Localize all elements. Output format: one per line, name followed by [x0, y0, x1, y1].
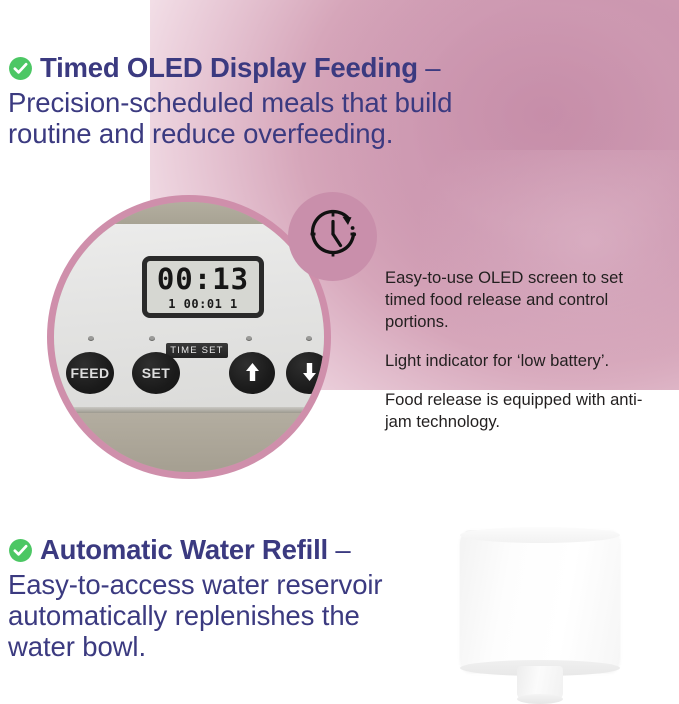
feature-title: Timed OLED Display Feeding: [40, 52, 418, 83]
feature-title-dash: –: [418, 52, 441, 83]
side-note-2: Light indicator for ‘low battery’.: [385, 350, 660, 372]
up-button[interactable]: [229, 352, 275, 394]
side-note-1: Easy-to-use OLED screen to set timed foo…: [385, 267, 660, 333]
arrow-down-icon: [301, 361, 318, 386]
clock-refresh-icon: [303, 204, 363, 269]
reservoir-body: [460, 530, 620, 672]
oled-main-time: 00:13: [147, 262, 259, 296]
arrow-up-icon: [244, 361, 261, 386]
check-circle-icon: [8, 538, 33, 569]
reservoir-top-rim: [460, 527, 620, 543]
led-indicator-2: [149, 336, 155, 341]
set-button[interactable]: SET: [132, 352, 180, 394]
feature-description-line-1: Easy-to-access water reservoir: [8, 569, 478, 600]
feature-description-line-1: Precision-scheduled meals that build: [8, 87, 563, 118]
feature-description-line-3: water bowl.: [8, 631, 478, 662]
feature-title-row-2: Automatic Water Refill –: [8, 534, 478, 569]
feed-button[interactable]: FEED: [66, 352, 114, 394]
feature-description-line-2: automatically replenishes the: [8, 600, 478, 631]
product-photo-water-reservoir: [455, 530, 630, 703]
side-notes-list: Easy-to-use OLED screen to set timed foo…: [385, 267, 660, 433]
oled-sub-readout: 1 00:01 1: [147, 297, 259, 311]
photo-top-band: [54, 202, 324, 224]
feature-title-dash: –: [328, 534, 351, 565]
feature-block-automatic-water-refill: Automatic Water Refill – Easy-to-access …: [8, 534, 478, 662]
feature-block-timed-oled-display-feeding: Timed OLED Display Feeding – Precision-s…: [8, 52, 563, 149]
led-indicator-1: [88, 336, 94, 341]
photo-lower-body: [54, 413, 324, 472]
oled-display-screen: 00:13 1 00:01 1: [142, 256, 264, 318]
check-circle-icon: [8, 56, 33, 87]
led-indicator-3: [246, 336, 252, 341]
time-set-plaque: TIME SET: [166, 343, 228, 358]
feature-description-line-2: routine and reduce overfeeding.: [8, 118, 563, 149]
side-note-3: Food release is equipped with anti-jam t…: [385, 389, 660, 433]
timer-badge: [288, 192, 377, 281]
feature-title-row-1: Timed OLED Display Feeding –: [8, 52, 563, 87]
led-indicator-4: [306, 336, 312, 341]
feature-title: Automatic Water Refill: [40, 534, 328, 565]
